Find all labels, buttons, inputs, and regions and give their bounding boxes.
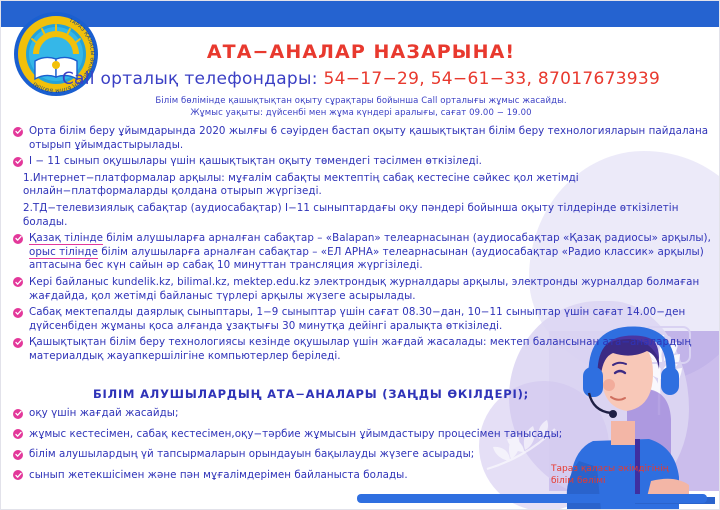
list-item-text: білім алушылардың үй тапсырмаларын орынд… [29,448,474,460]
parents-section-title: БІЛІМ АЛУШЫЛАРДЫҢ АТА−АНАЛАРЫ (ЗАҢДЫ ӨКІ… [1,387,621,401]
list-item-text: Сабақ мектепалды даярлық сыныптары, 1−9 … [29,306,685,332]
list-item-text-part4: білім алушыларға арналған сабақтар – «ЕЛ… [29,246,704,272]
sub-list-item-text: 1.Интернет−платформалар арқылы: мұғалім … [23,172,579,198]
check-circle-icon [13,429,23,439]
check-circle-icon [13,127,23,137]
desk-bar [357,494,707,503]
sub-list-item-text: 2.ТД−телевизиялық сабақтар (аудиосабақта… [23,202,678,228]
check-circle-icon [13,450,23,460]
russian-language-emphasis: орыс тілінде [29,246,98,259]
check-circle-icon [13,234,23,244]
list-item: Кері байланыс kundelik.kz, bilimal.kz, m… [1,276,720,303]
publisher-credit-line-1: Тараз қаласы әкімдігінің [551,463,711,475]
list-item-languages: Қазақ тілінде білім алушыларға арналған … [1,232,720,273]
check-circle-icon [13,308,23,318]
list-item: Қашықтықтан білім беру технологиясы кезі… [1,336,720,363]
poster-root: ? [0,0,720,510]
sub-list-item: 2.ТД−телевизиялық сабақтар (аудиосабақта… [1,202,720,229]
check-circle-icon [13,409,23,419]
main-information-list: Орта білім беру ұйымдарында 2020 жылғы 6… [1,125,720,367]
list-item-text: Қашықтықтан білім беру технологиясы кезі… [29,336,691,362]
check-circle-icon [13,470,23,480]
kazakh-language-emphasis: Қазақ тілінде [29,232,103,245]
list-item-text: оқу үшін жағдай жасайды; [29,407,179,419]
header-subtitle-line-2: Жұмыс уақыты: дүйсенбі мен жұма күндері … [1,108,720,118]
check-circle-icon [13,338,23,348]
list-item-text: Кері байланыс kundelik.kz, bilimal.kz, m… [29,276,699,302]
page-title: АТА−АНАЛАР НАЗАРЫНА! [1,41,720,63]
list-item: Орта білім беру ұйымдарында 2020 жылғы 6… [1,125,720,152]
publisher-credit: Тараз қаласы әкімдігінің білім бөлімі [551,463,711,487]
header-subtitle-line-1: Білім бөлімінде қашықтықтан оқыту сұрақт… [1,96,720,106]
top-blue-band [1,1,720,27]
check-circle-icon [13,157,23,167]
list-item-text: Орта білім беру ұйымдарында 2020 жылғы 6… [29,125,708,151]
list-item: I − 11 сынып оқушылары үшін қашықтықтан … [1,155,720,169]
list-item: білім алушылардың үй тапсырмаларын орынд… [1,448,720,462]
list-item: оқу үшін жағдай жасайды; [1,407,720,421]
call-center-phone-numbers: 54−17−29, 54−61−33, 87017673939 [324,69,661,89]
list-item: Сабақ мектепалды даярлық сыныптары, 1−9 … [1,306,720,333]
list-item: жұмыс кестесімен, сабақ кестесімен,оқу−т… [1,428,720,442]
list-item-text: сынып жетекшісімен және пән мұғалімдерім… [29,469,408,481]
list-item-text-part2: білім алушыларға арналған сабақтар – «Ba… [103,232,711,244]
call-center-phones: Call орталық телефондары: 54−17−29, 54−6… [1,69,720,89]
publisher-credit-line-2: білім бөлімі [551,475,711,487]
list-item-text: I − 11 сынып оқушылары үшін қашықтықтан … [29,155,482,167]
list-item-text: жұмыс кестесімен, сабақ кестесімен,оқу−т… [29,428,562,440]
check-circle-icon [13,277,23,287]
sub-list-item: 1.Интернет−платформалар арқылы: мұғалім … [1,172,720,199]
call-center-phones-label: Call орталық телефондары: [62,69,318,89]
